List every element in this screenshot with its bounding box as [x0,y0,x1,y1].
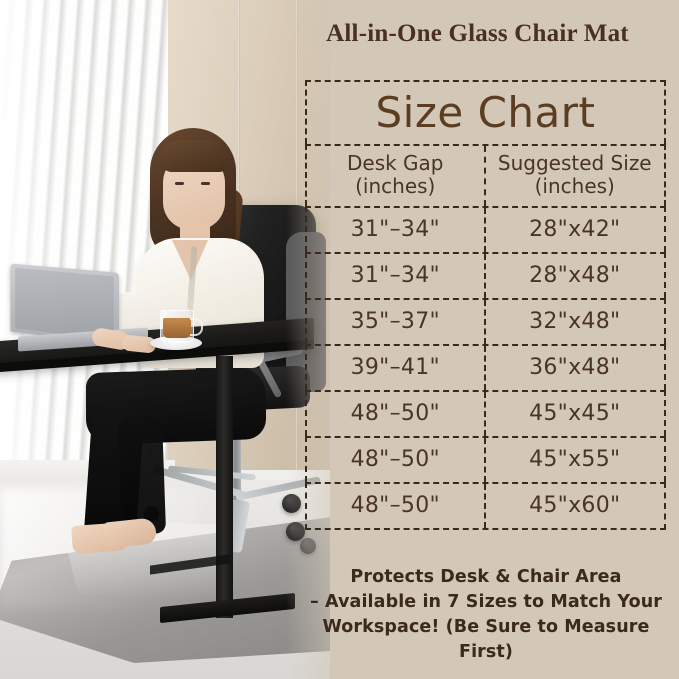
coffee-liquid [163,318,191,338]
column-header-desk-gap: Desk Gap (inches) [307,146,486,206]
column-header-line2: (inches) [309,175,482,198]
size-chart-table: Size Chart Desk Gap (inches) Suggested S… [305,80,666,530]
column-header-suggested-size: Suggested Size (inches) [486,146,665,206]
cell-suggested-size: 28"x42" [486,208,665,252]
cell-desk-gap: 35"–37" [307,300,486,344]
chair-caster [282,494,301,513]
cell-suggested-size: 45"x55" [486,438,665,482]
cell-suggested-size: 36"x48" [486,346,665,390]
infographic-page: All-in-One Glass Chair Mat Size Chart De… [0,0,679,679]
cell-desk-gap: 31"–34" [307,254,486,298]
caption-line-3: Workspace! (Be Sure to Measure First) [300,615,672,665]
cell-suggested-size: 45"x60" [486,484,665,528]
cell-suggested-size: 32"x48" [486,300,665,344]
person-shin [118,415,166,534]
size-chart-heading: Size Chart [305,80,666,144]
column-header-line2: (inches) [488,175,663,198]
cell-desk-gap: 48"–50" [307,392,486,436]
table-row: 31"–34" 28"x48" [305,252,666,298]
cell-desk-gap: 48"–50" [307,438,486,482]
bottom-caption: Protects Desk & Chair Area – Available i… [300,565,672,664]
page-title: All-in-One Glass Chair Mat [285,20,670,48]
table-row: 48"–50" 45"x55" [305,436,666,482]
person-eye [175,182,184,185]
table-row: 35"–37" 32"x48" [305,298,666,344]
table-row: 39"–41" 36"x48" [305,344,666,390]
caption-line-1: Protects Desk & Chair Area [300,565,672,590]
table-row: 31"–34" 28"x42" [305,206,666,252]
person-hair-fringe [160,140,228,172]
cell-suggested-size: 28"x48" [486,254,665,298]
table-row: 48"–50" 45"x45" [305,390,666,436]
cell-suggested-size: 45"x45" [486,392,665,436]
coffee-cup [160,310,194,342]
caption-line-2: – Available in 7 Sizes to Match Your [300,590,672,615]
column-header-line1: Suggested Size [488,152,663,175]
table-header-row: Desk Gap (inches) Suggested Size (inches… [305,144,666,206]
table-row: 48"–50" 45"x60" [305,482,666,530]
desk-leg [216,356,233,618]
column-header-line1: Desk Gap [309,152,482,175]
product-lifestyle-photo [0,0,330,679]
person-eye [201,182,210,185]
cell-desk-gap: 39"–41" [307,346,486,390]
cell-desk-gap: 48"–50" [307,484,486,528]
cell-desk-gap: 31"–34" [307,208,486,252]
